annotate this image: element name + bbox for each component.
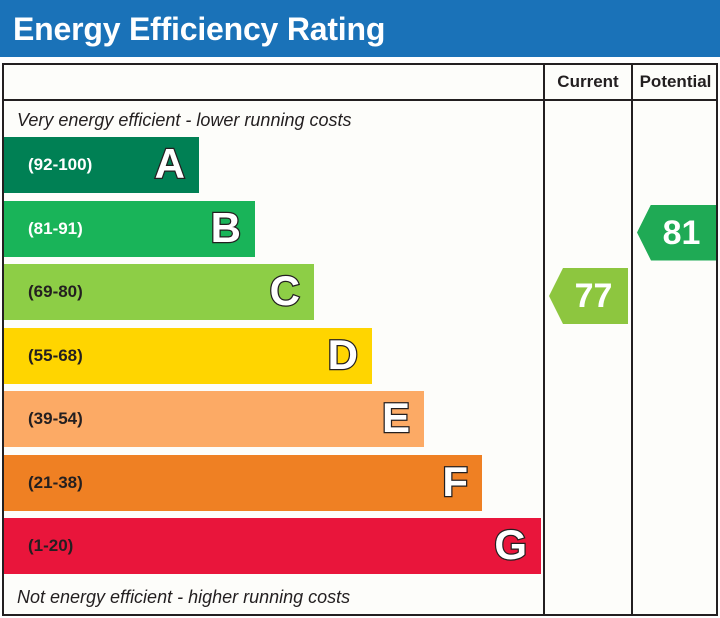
band-letter-e: E	[382, 391, 410, 447]
band-bar-e: (39-54)E	[4, 391, 424, 447]
page-title: Energy Efficiency Rating	[13, 9, 385, 49]
band-bar-f: (21-38)F	[4, 455, 482, 511]
band-range-b: (81-91)	[28, 201, 83, 257]
band-range-a: (92-100)	[28, 137, 92, 193]
title-bar: Energy Efficiency Rating	[0, 0, 720, 57]
band-range-d: (55-68)	[28, 328, 83, 384]
potential-rating-value: 81	[653, 215, 701, 251]
potential-rating-marker: 81	[637, 205, 716, 261]
band-range-e: (39-54)	[28, 391, 83, 447]
band-letter-c: C	[270, 264, 300, 320]
energy-efficiency-rating-chart: Energy Efficiency Rating Current Potenti…	[0, 0, 720, 618]
caption-not-efficient: Not energy efficient - higher running co…	[17, 587, 350, 608]
caption-very-efficient: Very energy efficient - lower running co…	[17, 110, 352, 131]
column-header-potential: Potential	[633, 65, 718, 99]
band-range-c: (69-80)	[28, 264, 83, 320]
band-bar-a: (92-100)A	[4, 137, 199, 193]
band-bar-b: (81-91)B	[4, 201, 255, 257]
band-range-f: (21-38)	[28, 455, 83, 511]
column-separator-potential	[631, 65, 633, 614]
column-header-current: Current	[545, 65, 631, 99]
band-letter-g: G	[494, 518, 527, 574]
chart-frame: Current Potential Very energy efficient …	[2, 63, 718, 616]
band-letter-f: F	[442, 455, 468, 511]
band-bar-c: (69-80)C	[4, 264, 314, 320]
band-bar-g: (1-20)G	[4, 518, 541, 574]
current-rating-marker: 77	[549, 268, 628, 324]
band-bar-d: (55-68)D	[4, 328, 372, 384]
band-bars: (92-100)A(81-91)B(69-80)C(55-68)D(39-54)…	[4, 137, 543, 583]
band-letter-a: A	[155, 137, 185, 193]
band-range-g: (1-20)	[28, 518, 73, 574]
band-letter-d: D	[328, 328, 358, 384]
current-rating-value: 77	[565, 278, 613, 314]
band-letter-b: B	[211, 201, 241, 257]
column-separator-current	[543, 65, 545, 614]
